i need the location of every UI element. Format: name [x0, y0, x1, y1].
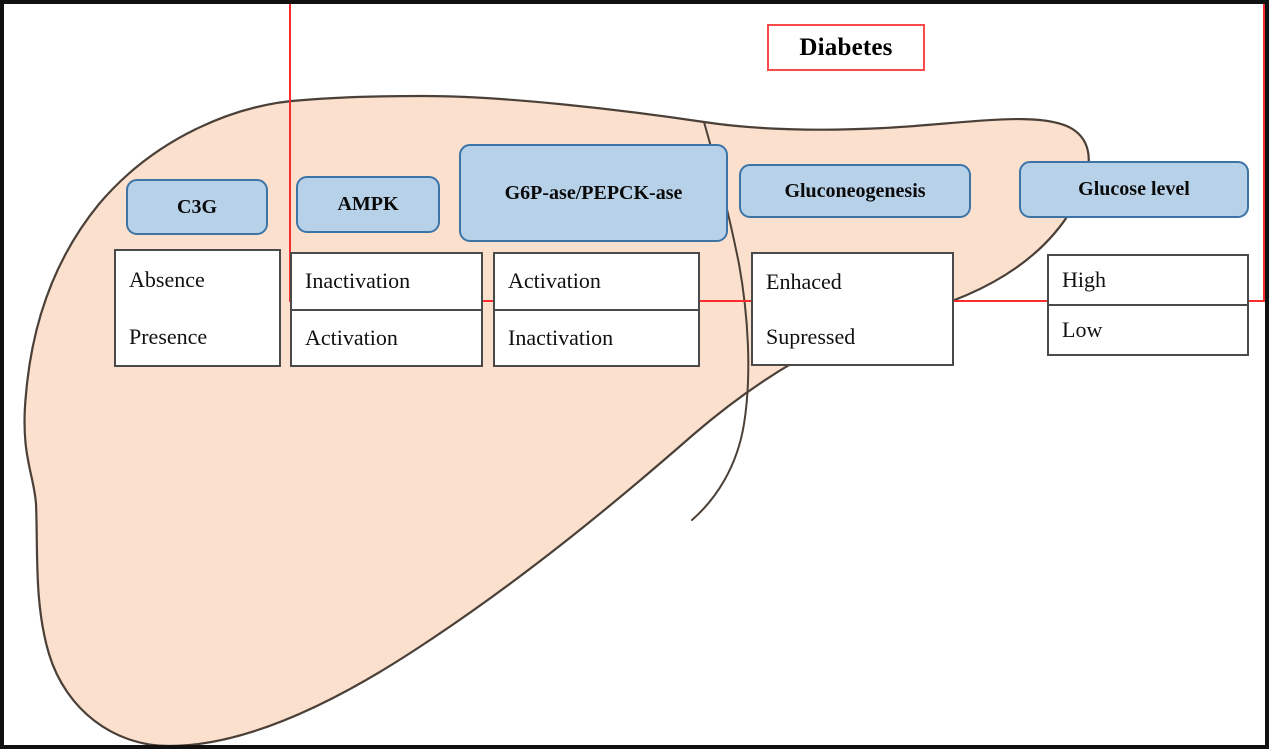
value-cell: Low [1049, 306, 1247, 354]
value-cell: Inactivation [292, 254, 481, 311]
header-pill-c3g: C3G [126, 179, 268, 235]
value-box-g6pase-pepckase: Activation Inactivation [493, 252, 700, 367]
value-cell: Absence [116, 251, 279, 308]
value-cell: Activation [292, 311, 481, 366]
header-pill-gluconeogenesis: Gluconeogenesis [739, 164, 971, 218]
value-box-ampk: Inactivation Activation [290, 252, 483, 367]
diabetes-label: Diabetes [767, 24, 925, 71]
value-cell: Presence [116, 308, 279, 365]
value-cell: Activation [495, 254, 698, 311]
value-box-c3g: Absence Presence [114, 249, 281, 367]
value-box-glucose-level: High Low [1047, 254, 1249, 356]
header-pill-glucose-level: Glucose level [1019, 161, 1249, 218]
liver-silhouette [4, 4, 1269, 749]
value-cell: High [1049, 256, 1247, 306]
liver-diabetes-figure: Diabetes C3G Absence Presence AMPK Inact… [0, 0, 1269, 749]
header-pill-label: Glucose level [1078, 178, 1190, 201]
header-pill-label: C3G [177, 196, 217, 219]
header-pill-label: AMPK [337, 193, 398, 216]
header-pill-ampk: AMPK [296, 176, 440, 233]
header-pill-label: Gluconeogenesis [784, 180, 925, 203]
header-pill-g6pase-pepckase: G6P-ase/PEPCK-ase [459, 144, 728, 242]
value-cell: Inactivation [495, 311, 698, 366]
value-cell: Enhaced [753, 254, 952, 309]
value-box-gluconeogenesis: Enhaced Supressed [751, 252, 954, 366]
header-pill-label: G6P-ase/PEPCK-ase [505, 182, 683, 205]
value-cell: Supressed [753, 309, 952, 364]
